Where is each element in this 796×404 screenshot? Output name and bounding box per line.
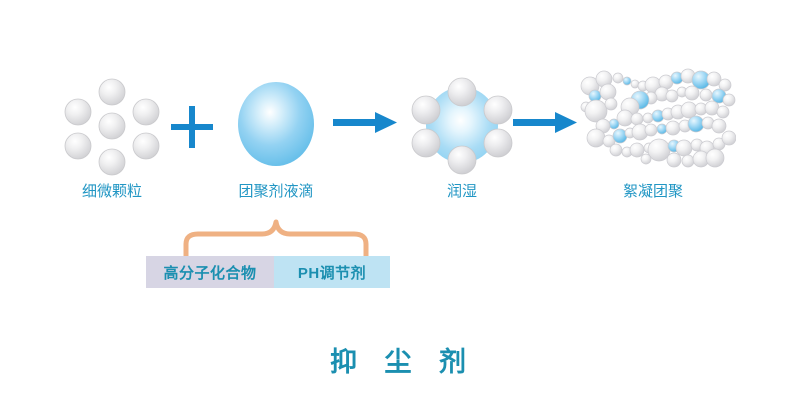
fine-particles-art <box>42 70 182 180</box>
diagram-canvas: 细微颗粒 团聚剂液滴 <box>0 0 796 404</box>
stage-flocculation: 絮凝团聚 <box>570 62 736 202</box>
arrow-right-1 <box>333 108 399 143</box>
agglomerant-droplet-art <box>206 76 346 186</box>
stage-label-fine-particles: 细微颗粒 <box>42 183 182 201</box>
chip-polymer-label: 高分子化合物 <box>163 262 256 283</box>
figure-title: 抑 尘 剂 <box>0 340 796 379</box>
flocculation-network <box>581 69 736 167</box>
stage-agglomerant-droplet: 团聚剂液滴 <box>206 70 346 200</box>
stage-label-agglomerant-droplet: 团聚剂液滴 <box>206 183 346 201</box>
curly-brace-icon <box>182 218 370 260</box>
stage-label-wetting: 润湿 <box>392 183 532 201</box>
flocculation-art <box>570 62 736 180</box>
chip-polymer[interactable]: 高分子化合物 <box>146 256 274 288</box>
chip-ph-adjuster-label: PH调节剂 <box>298 262 366 283</box>
chip-ph-adjuster[interactable]: PH调节剂 <box>274 256 390 288</box>
stage-wetting: 润湿 <box>392 70 532 200</box>
gray-sphere-group <box>65 79 159 175</box>
droplet-sphere <box>238 82 314 166</box>
stage-fine-particles: 细微颗粒 <box>42 70 182 200</box>
wetting-art <box>392 70 532 180</box>
arrow-right-icon <box>333 108 399 138</box>
stage-label-flocculation: 絮凝团聚 <box>570 183 736 201</box>
